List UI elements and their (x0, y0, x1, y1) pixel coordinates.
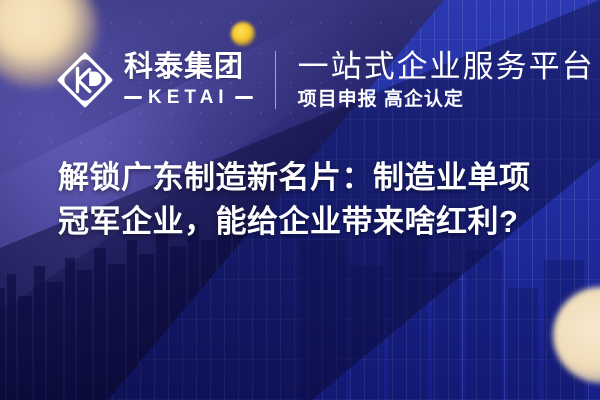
ketai-diamond-monogram-icon (56, 51, 114, 109)
tagline-primary: 一站式企业服务平台 (298, 51, 595, 84)
brand-name-en: KETAI (148, 88, 229, 107)
brand-name-en-row: KETAI (124, 88, 253, 107)
banner-canvas: 科泰集团 KETAI 一站式企业服务平台 项目申报 高企认定 解锁广东制造新名片… (0, 0, 600, 400)
headline-line-1: 解锁广东制造新名片：制造业单项 (58, 156, 558, 200)
headline: 解锁广东制造新名片：制造业单项 冠军企业，能给企业带来啥红利? (58, 156, 558, 244)
brand-logo-text: 科泰集团 KETAI (124, 53, 253, 107)
brand-dash-left (124, 96, 142, 99)
brand-name-cn: 科泰集团 (124, 53, 253, 82)
header-divider (275, 51, 276, 109)
brand-header: 科泰集团 KETAI 一站式企业服务平台 项目申报 高企认定 (0, 40, 600, 120)
headline-line-2: 冠军企业，能给企业带来啥红利? (58, 200, 558, 244)
tagline-secondary: 项目申报 高企认定 (298, 90, 595, 109)
brand-tagline: 一站式企业服务平台 项目申报 高企认定 (298, 51, 595, 110)
brand-logo[interactable]: 科泰集团 KETAI (56, 51, 253, 109)
brand-dash-right (235, 96, 253, 99)
